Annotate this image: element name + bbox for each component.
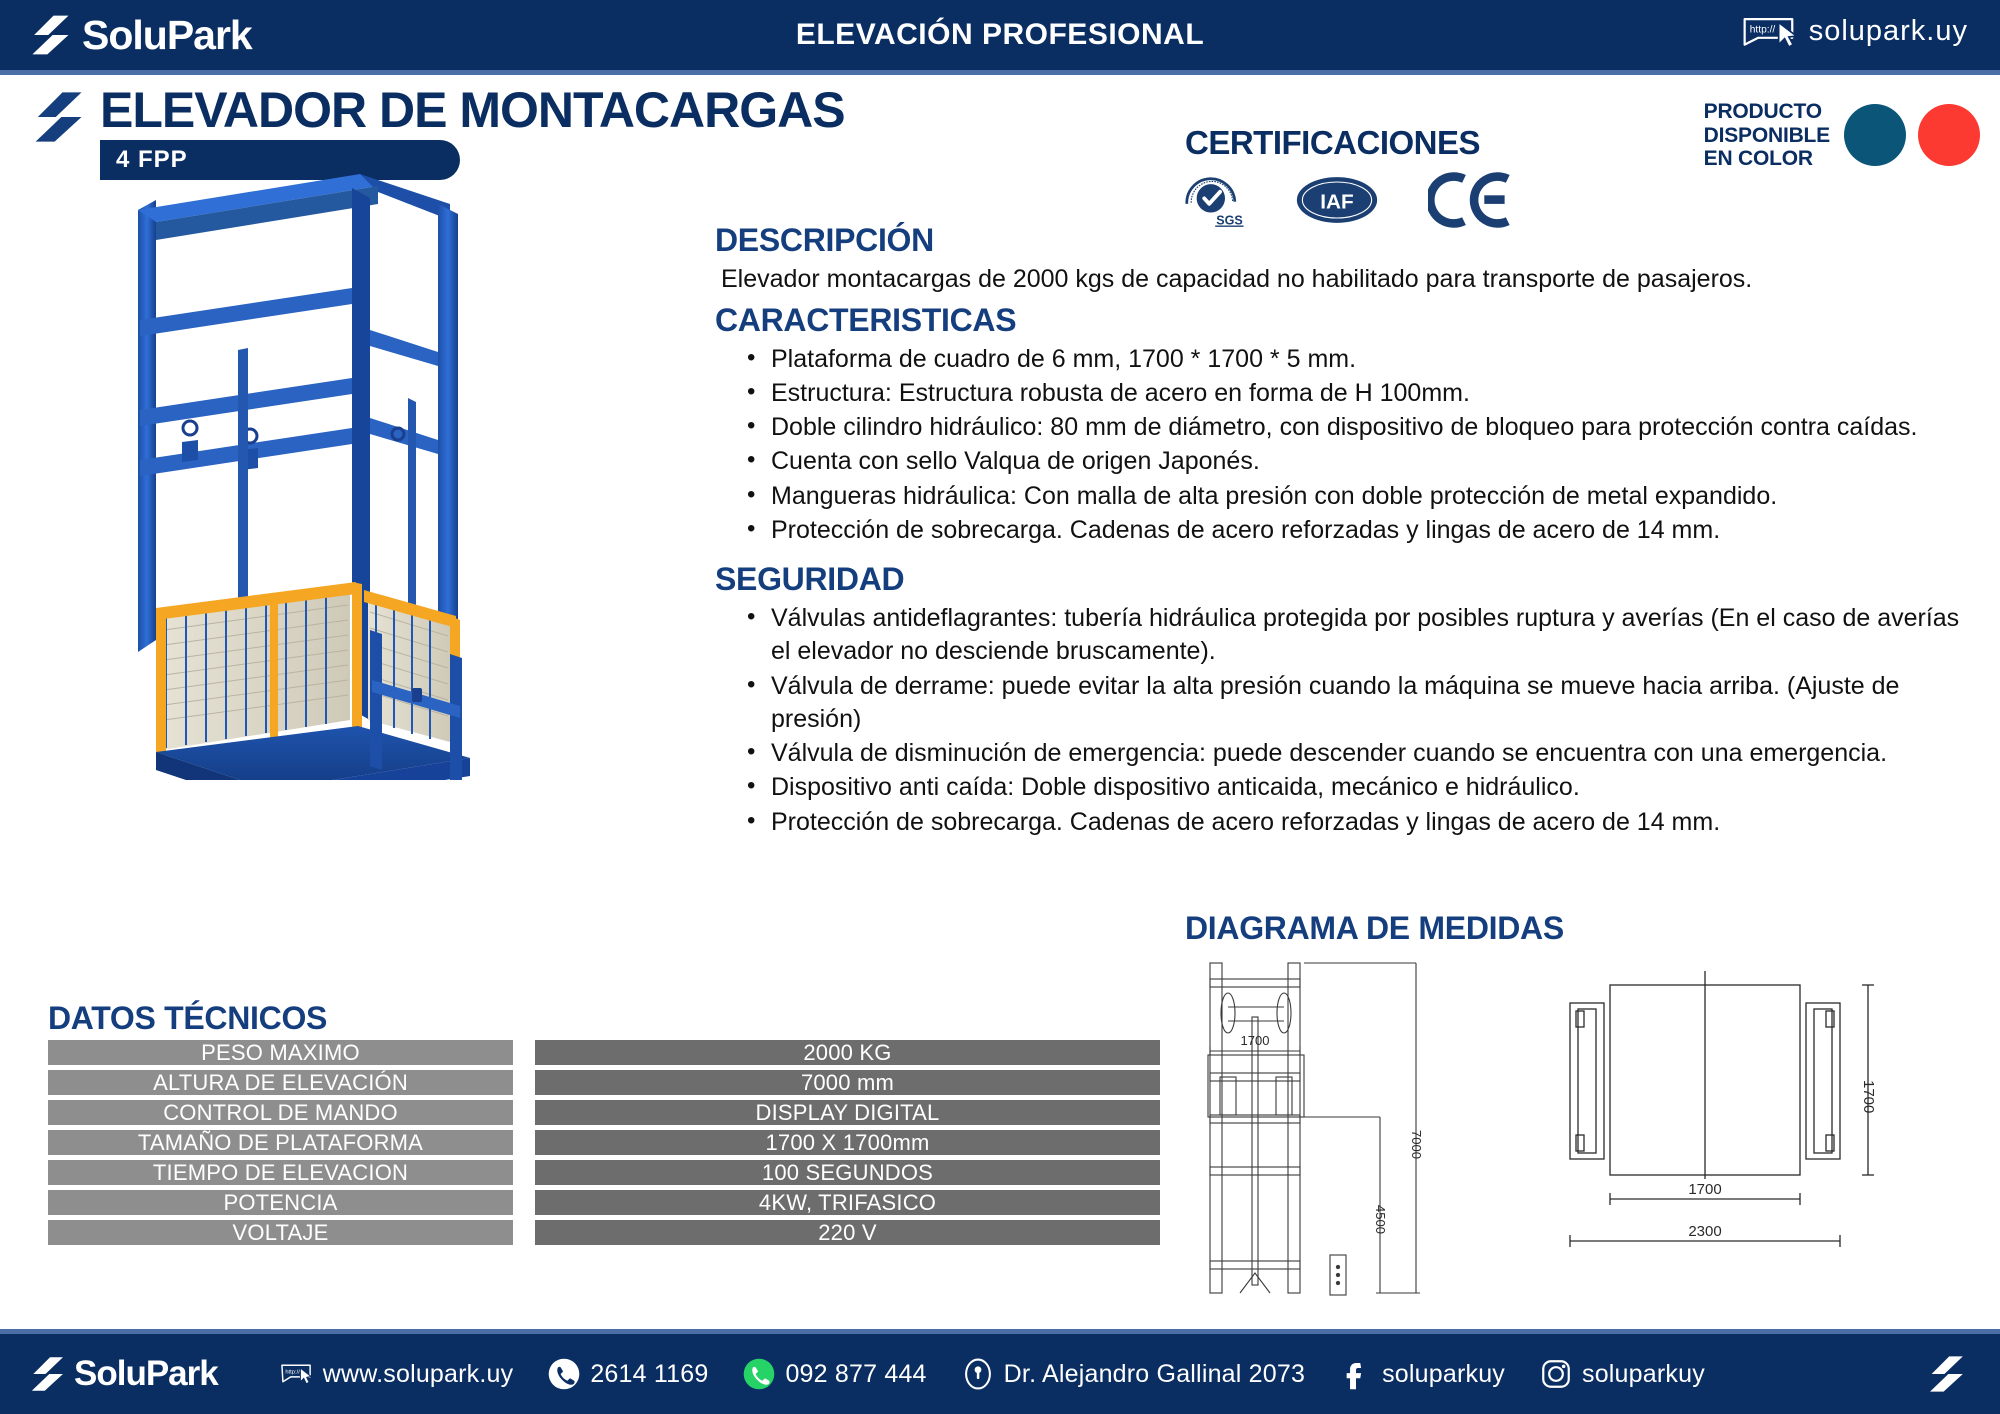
product-image-elevator (120, 160, 540, 780)
list-item: Dispositivo anti caída: Doble dispositiv… (743, 771, 1985, 804)
table-cell-key: VOLTAJE (48, 1220, 513, 1245)
table-cell-key: TIEMPO DE ELEVACION (48, 1160, 513, 1185)
table-row: PESO MAXIMO 2000 KG (48, 1040, 1183, 1065)
color-availability-label: PRODUCTO DISPONIBLE EN COLOR (1704, 100, 1830, 171)
table-cell-value: DISPLAY DIGITAL (535, 1100, 1160, 1125)
table-cell-key: TAMAÑO DE PLATAFORMA (48, 1130, 513, 1155)
sgs-iso-badge-icon: SGS (1180, 170, 1246, 230)
technical-data-table: PESO MAXIMO 2000 KG ALTURA DE ELEVACIÓN … (48, 1040, 1183, 1250)
elevation-width-label: 1700 (1241, 1033, 1270, 1048)
color-swatches (1844, 104, 1980, 166)
characteristics-heading: CARACTERISTICAS (715, 302, 1985, 339)
product-content-column: DESCRIPCIÓN Elevador montacargas de 2000… (715, 222, 1985, 840)
footer-website-label: www.solupark.uy (323, 1360, 514, 1389)
table-row: TAMAÑO DE PLATAFORMA 1700 X 1700mm (48, 1130, 1183, 1155)
title-logo-icon (30, 89, 86, 145)
certifications-row: SGS IAF (1180, 170, 1514, 230)
description-text: Elevador montacargas de 2000 kgs de capa… (721, 263, 1985, 296)
color-line-2: DISPONIBLE (1704, 124, 1830, 148)
table-cell-key: ALTURA DE ELEVACIÓN (48, 1070, 513, 1095)
footer-whatsapp[interactable]: 092 877 444 (742, 1357, 926, 1391)
safety-list: Válvulas antideflagrantes: tubería hidrá… (743, 602, 1985, 839)
table-cell-value: 100 SEGUNDOS (535, 1160, 1160, 1185)
color-swatch-blue (1844, 104, 1906, 166)
footer-bar: SoluPark http:// www.solupark.uy 2614 11… (0, 1334, 2000, 1414)
table-cell-value: 7000 mm (535, 1070, 1160, 1095)
url-icon: http:// (280, 1357, 314, 1391)
footer-contact-items: http:// www.solupark.uy 2614 1169 092 87… (280, 1357, 1705, 1391)
iaf-badge-icon: IAF (1292, 170, 1382, 230)
list-item: Cuenta con sello Valqua de origen Japoné… (743, 445, 1985, 478)
footer-phone-label: 2614 1169 (590, 1360, 708, 1389)
header-website-text: solupark.uy (1809, 15, 1968, 48)
header-banner-title: ELEVACIÓN PROFESIONAL (0, 0, 2000, 70)
facebook-icon (1339, 1357, 1373, 1391)
measurement-diagrams: 1700 7000 4500 1 (1180, 955, 1980, 1305)
table-row: VOLTAJE 220 V (48, 1220, 1183, 1245)
safety-heading: SEGURIDAD (715, 561, 1985, 598)
plan-depth-label: 1700 (1860, 1080, 1877, 1113)
header-website-link[interactable]: http:// solupark.uy (1741, 14, 1968, 48)
url-cursor-icon: http:// (1741, 14, 1801, 48)
plan-inner-width-label: 1700 (1688, 1181, 1721, 1198)
footer-end-logo-icon (1926, 1352, 1966, 1396)
list-item: Estructura: Estructura robusta de acero … (743, 377, 1985, 410)
svg-text:IAF: IAF (1320, 190, 1353, 213)
color-line-1: PRODUCTO (1704, 100, 1830, 124)
color-swatch-red (1918, 104, 1980, 166)
datasheet-page: SoluPark ELEVACIÓN PROFESIONAL http:// s… (0, 0, 2000, 1414)
footer-brand-lockup: SoluPark (0, 1354, 218, 1394)
plan-view (1570, 971, 1874, 1247)
page-title: ELEVADOR DE MONTACARGAS (100, 81, 845, 139)
list-item: Plataforma de cuadro de 6 mm, 1700 * 170… (743, 343, 1985, 376)
list-item: Mangueras hidráulica: Con malla de alta … (743, 480, 1985, 513)
diagram-heading: DIAGRAMA DE MEDIDAS (1185, 910, 1564, 947)
svg-text:http://: http:// (1749, 25, 1775, 36)
footer-brand-name: SoluPark (74, 1354, 218, 1394)
table-row: TIEMPO DE ELEVACION 100 SEGUNDOS (48, 1160, 1183, 1185)
footer-address-label: Dr. Alejandro Gallinal 2073 (1004, 1360, 1305, 1389)
color-availability-block: PRODUCTO DISPONIBLE EN COLOR (1704, 100, 1980, 171)
footer-instagram[interactable]: soluparkuy (1539, 1357, 1705, 1391)
header-divider (0, 70, 2000, 75)
table-cell-value: 2000 KG (535, 1040, 1160, 1065)
elevation-view (1208, 963, 1420, 1295)
color-line-3: EN COLOR (1704, 147, 1830, 171)
table-cell-key: POTENCIA (48, 1190, 513, 1215)
footer-website[interactable]: http:// www.solupark.uy (280, 1357, 514, 1391)
list-item: Protección de sobrecarga. Cadenas de ace… (743, 514, 1985, 547)
elevation-lift-height-label: 4500 (1373, 1205, 1388, 1234)
table-cell-value: 4KW, TRIFASICO (535, 1190, 1160, 1215)
table-cell-value: 220 V (535, 1220, 1160, 1245)
characteristics-list: Plataforma de cuadro de 6 mm, 1700 * 170… (743, 343, 1985, 548)
plan-outer-width-label: 2300 (1688, 1223, 1721, 1240)
table-cell-key: PESO MAXIMO (48, 1040, 513, 1065)
table-cell-value: 1700 X 1700mm (535, 1130, 1160, 1155)
table-cell-key: CONTROL DE MANDO (48, 1100, 513, 1125)
list-item: Doble cilindro hidráulico: 80 mm de diám… (743, 411, 1985, 444)
footer-address: Dr. Alejandro Gallinal 2073 (961, 1357, 1305, 1391)
table-row: CONTROL DE MANDO DISPLAY DIGITAL (48, 1100, 1183, 1125)
list-item: Válvulas antideflagrantes: tubería hidrá… (743, 602, 1985, 669)
whatsapp-icon (742, 1357, 776, 1391)
certifications-heading: CERTIFICACIONES (1185, 124, 1480, 162)
elevation-total-height-label: 7000 (1409, 1130, 1424, 1159)
technical-data-heading: DATOS TÉCNICOS (48, 1000, 327, 1037)
footer-logo-icon (28, 1355, 66, 1393)
location-icon (961, 1357, 995, 1391)
footer-instagram-label: soluparkuy (1582, 1360, 1705, 1389)
description-heading: DESCRIPCIÓN (715, 222, 1985, 259)
table-row: POTENCIA 4KW, TRIFASICO (48, 1190, 1183, 1215)
instagram-icon (1539, 1357, 1573, 1391)
ce-badge-icon (1428, 170, 1514, 230)
footer-facebook[interactable]: soluparkuy (1339, 1357, 1505, 1391)
footer-whatsapp-label: 092 877 444 (785, 1360, 926, 1389)
svg-text:http://: http:// (285, 1370, 300, 1376)
footer-facebook-label: soluparkuy (1382, 1360, 1505, 1389)
list-item: Válvula de derrame: puede evitar la alta… (743, 670, 1985, 737)
phone-icon (547, 1357, 581, 1391)
table-row: ALTURA DE ELEVACIÓN 7000 mm (48, 1070, 1183, 1095)
list-item: Protección de sobrecarga. Cadenas de ace… (743, 806, 1985, 839)
list-item: Válvula de disminución de emergencia: pu… (743, 737, 1985, 770)
footer-phone[interactable]: 2614 1169 (547, 1357, 708, 1391)
